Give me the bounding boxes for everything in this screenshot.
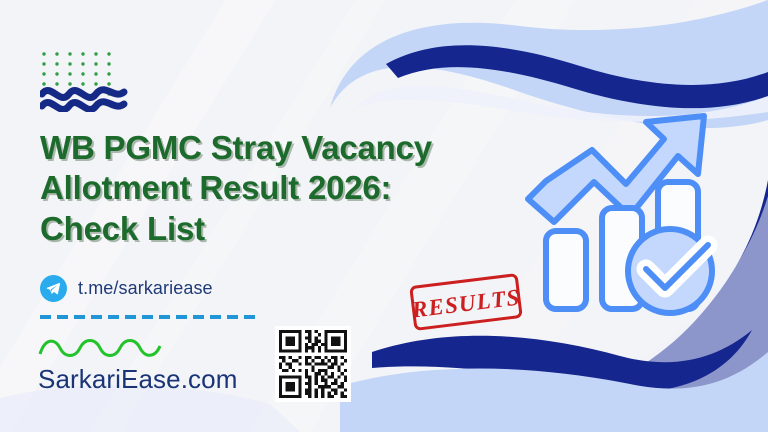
bar-short [546, 231, 586, 309]
telegram-handle: t.me/sarkariease [78, 278, 213, 299]
qr-code[interactable] [275, 326, 351, 402]
qr-code-image [279, 330, 347, 398]
brand-name: SarkariEase.com [38, 364, 237, 395]
navy-wave-icon [42, 90, 124, 110]
page-title: WB PGMC Stray Vacancy Allotment Result 2… [40, 128, 540, 249]
green-wave-divider [38, 336, 168, 360]
dot-grid-wave-motif [40, 50, 130, 112]
growth-chart-illustration [518, 104, 738, 324]
result-banner: WB PGMC Stray Vacancy Allotment Result 2… [0, 0, 768, 432]
telegram-icon [40, 275, 67, 302]
dashed-divider [40, 315, 258, 319]
telegram-link[interactable]: t.me/sarkariease [40, 275, 213, 302]
